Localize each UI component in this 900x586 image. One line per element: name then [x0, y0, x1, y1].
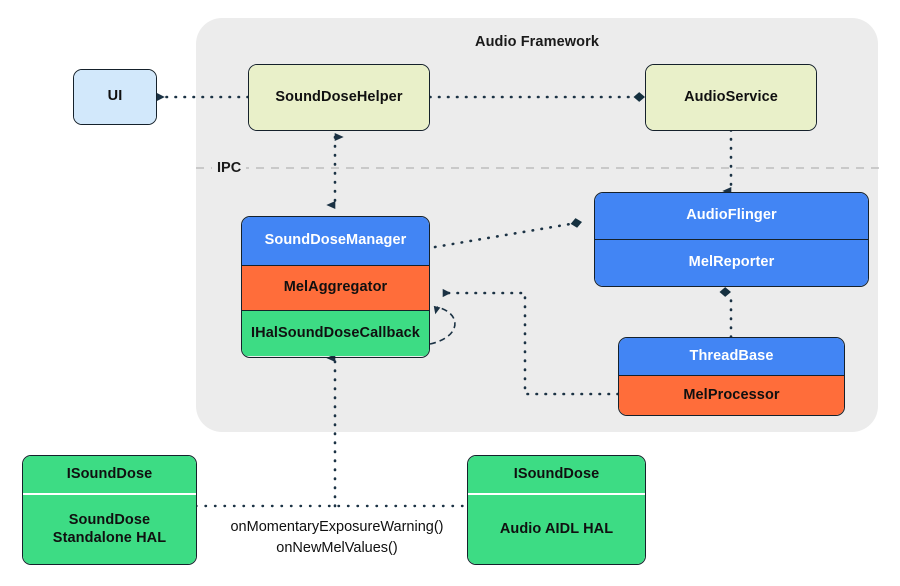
node-standalone-hal[interactable]: SoundDose Standalone HAL: [23, 495, 196, 564]
ipc-label: IPC: [212, 161, 246, 176]
edge-label-momentary-exposure: onMomentaryExposureWarning(): [198, 517, 476, 538]
node-standalone-isounddose[interactable]: ISoundDose: [23, 456, 196, 495]
architecture-diagram: Audio Framework: [0, 0, 900, 586]
node-ui-label: UI: [74, 70, 156, 124]
node-ui[interactable]: UI: [73, 69, 157, 125]
edge-label-new-mel-values: onNewMelValues(): [198, 538, 476, 559]
node-aidl-hal-stack[interactable]: ISoundDose Audio AIDL HAL: [467, 455, 646, 565]
node-mel-processor[interactable]: MelProcessor: [619, 376, 844, 415]
node-mel-reporter[interactable]: MelReporter: [595, 240, 868, 286]
node-audio-flinger-stack[interactable]: AudioFlinger MelReporter: [594, 192, 869, 287]
node-aidl-hal[interactable]: Audio AIDL HAL: [468, 495, 645, 564]
node-audio-flinger[interactable]: AudioFlinger: [595, 193, 868, 240]
node-thread-base[interactable]: ThreadBase: [619, 338, 844, 376]
node-sound-dose-helper-label: SoundDoseHelper: [249, 65, 429, 130]
node-audio-service-label: AudioService: [646, 65, 816, 130]
node-thread-base-stack[interactable]: ThreadBase MelProcessor: [618, 337, 845, 416]
node-sound-dose-helper[interactable]: SoundDoseHelper: [248, 64, 430, 131]
node-ihal-sound-dose-callback[interactable]: IHalSoundDoseCallback: [242, 311, 429, 356]
node-standalone-hal-stack[interactable]: ISoundDose SoundDose Standalone HAL: [22, 455, 197, 565]
node-aidl-isounddose[interactable]: ISoundDose: [468, 456, 645, 495]
node-mel-aggregator[interactable]: MelAggregator: [242, 266, 429, 311]
node-audio-service[interactable]: AudioService: [645, 64, 817, 131]
audio-framework-title: Audio Framework: [196, 34, 878, 50]
node-sound-dose-manager[interactable]: SoundDoseManager: [242, 217, 429, 266]
node-sound-dose-manager-stack[interactable]: SoundDoseManager MelAggregator IHalSound…: [241, 216, 430, 358]
